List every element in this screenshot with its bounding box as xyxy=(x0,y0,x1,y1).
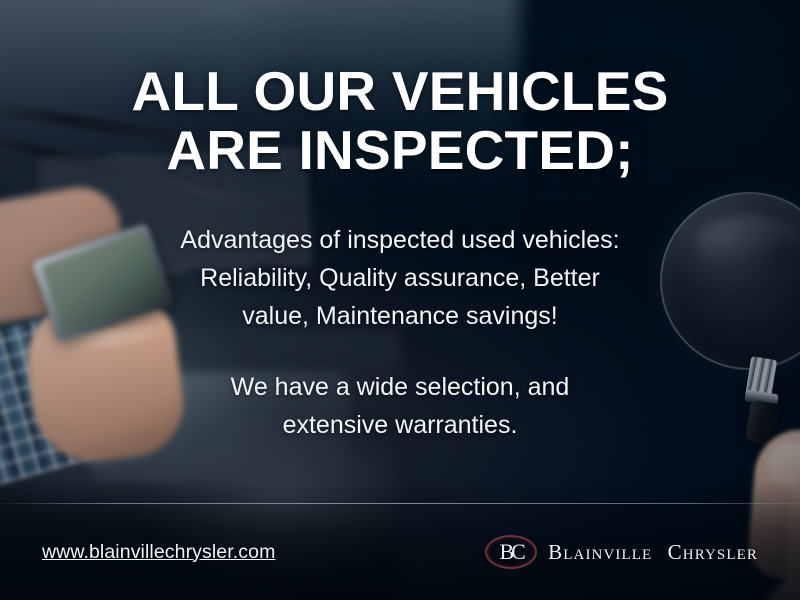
brand-name: Blainville Chrysler xyxy=(548,540,758,565)
paragraph-selection-line-2: extensive warranties. xyxy=(231,406,570,444)
paragraph-advantages-line-3: value, Maintenance savings! xyxy=(180,297,619,335)
headline-line-1: ALL OUR VEHICLES xyxy=(132,62,669,121)
paragraph-advantages: Advantages of inspected used vehicles: R… xyxy=(100,221,699,335)
paragraph-advantages-line-1: Advantages of inspected used vehicles: xyxy=(180,221,619,259)
brand-monogram-icon: BC xyxy=(485,535,537,569)
paragraph-advantages-line-2: Reliability, Quality assurance, Better xyxy=(180,259,619,297)
website-url-link[interactable]: www.blainvillechrysler.com xyxy=(42,541,275,564)
paragraph-selection: We have a wide selection, and extensive … xyxy=(151,368,650,444)
headline-line-2: ARE INSPECTED; xyxy=(132,121,669,180)
brand-name-word-1: Blainville xyxy=(548,540,652,564)
brand-logo[interactable]: BC Blainville Chrysler xyxy=(485,535,758,569)
paragraph-selection-line-1: We have a wide selection, and xyxy=(231,368,570,406)
footer: www.blainvillechrysler.com BC Blainville… xyxy=(0,504,800,600)
ad-creative: ALL OUR VEHICLES ARE INSPECTED; Advantag… xyxy=(0,0,800,600)
brand-monogram-letters: BC xyxy=(485,535,537,569)
brand-name-word-2: Chrysler xyxy=(668,540,758,564)
ad-copy-block: ALL OUR VEHICLES ARE INSPECTED; Advantag… xyxy=(0,0,800,503)
headline: ALL OUR VEHICLES ARE INSPECTED; xyxy=(72,0,729,181)
